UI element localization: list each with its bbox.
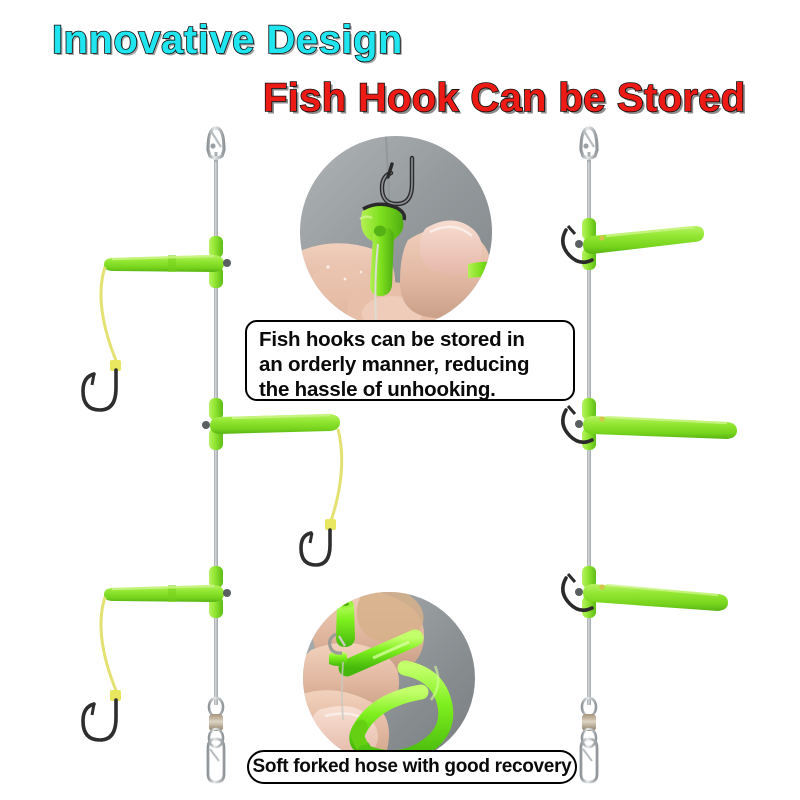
left-rig-bottom-swivel — [208, 698, 224, 782]
hook-deployed-lower-left — [83, 700, 116, 740]
right-rig-top-snap-swivel — [581, 128, 597, 162]
right-arm-lower-hook-stored — [563, 566, 728, 618]
product-infographic: Innovative Design Fish Hook Can be Store… — [0, 0, 800, 800]
callout-line-2: an orderly manner, reducing — [259, 352, 561, 377]
hook-deployed-middle — [301, 530, 330, 565]
callout-line-1: Fish hooks can be stored in — [259, 327, 561, 352]
callout-line-3: the hassle of unhooking. — [259, 377, 561, 402]
forked-hose-flex-photo — [303, 592, 475, 764]
page-subtitle-fish-hook-can-be-stored: Fish Hook Can be Stored — [263, 76, 746, 121]
right-arm-middle-hook-stored — [563, 398, 737, 450]
page-title-innovative-design: Innovative Design — [52, 18, 403, 63]
right-rig-bottom-swivel — [581, 698, 597, 782]
callout-bottom-text: Soft forked hose with good recovery — [253, 756, 572, 778]
left-arm-lower — [83, 566, 231, 740]
left-rig-top-snap-swivel — [208, 128, 224, 162]
callout-soft-forked-hose: Soft forked hose with good recovery — [247, 750, 577, 784]
hook-deployed-upper-left — [83, 370, 116, 410]
left-arm-upper — [83, 236, 231, 410]
right-arm-upper-hook-stored — [563, 218, 704, 270]
middle-arm-right — [202, 398, 342, 565]
callout-hook-storage: Fish hooks can be stored in an orderly m… — [245, 320, 575, 401]
hook-stored-on-clip-photo — [300, 136, 492, 328]
